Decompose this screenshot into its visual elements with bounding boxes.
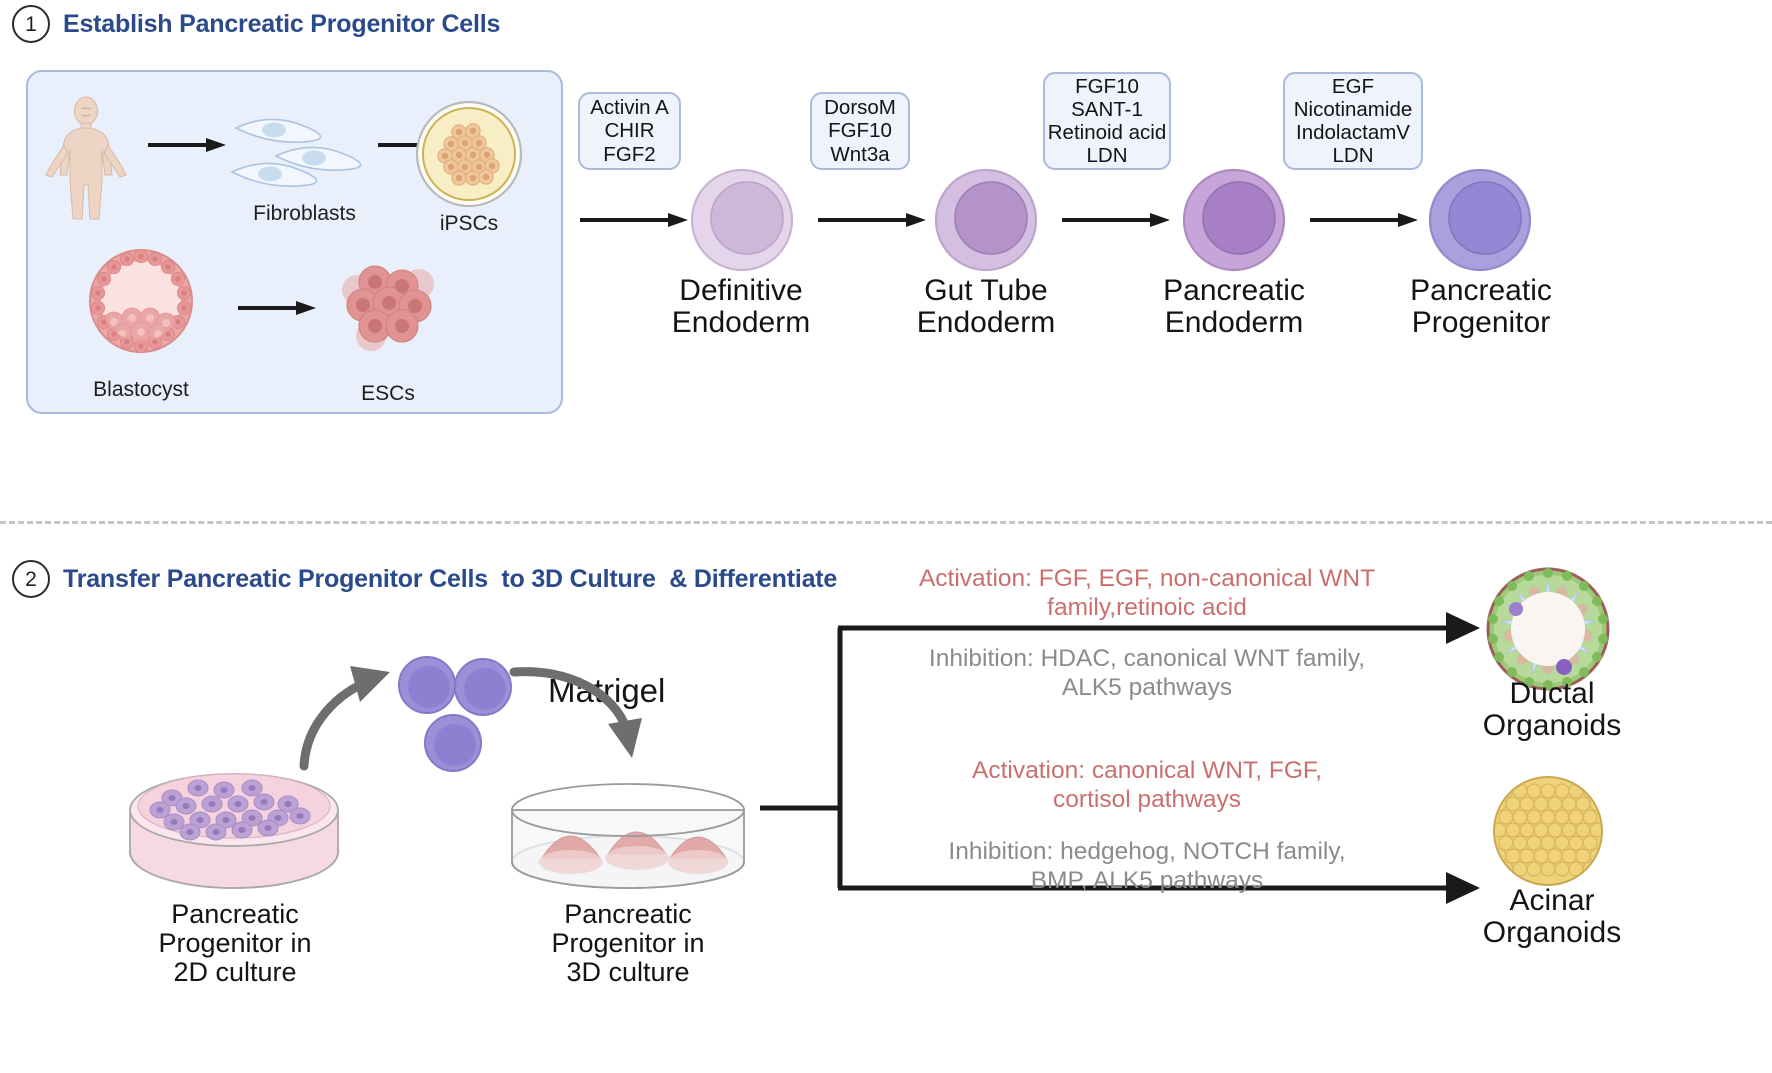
factor-line: Retinoid acid: [1048, 121, 1167, 144]
stage-label-definitive-endoderm: Definitive Endoderm: [650, 275, 832, 339]
ductal-inhibition-text: Inhibition: HDAC, canonical WNT family, …: [862, 645, 1432, 702]
petri-dish-ipsc-icon: [415, 100, 523, 208]
factor-line: FGF2: [603, 143, 655, 166]
factor-line: DorsoM: [824, 96, 896, 119]
factor-line: FGF10: [1075, 75, 1139, 98]
stage-label-pancreatic-endoderm: Pancreatic Endoderm: [1143, 275, 1325, 339]
factor-line: Nicotinamide: [1294, 98, 1413, 121]
dish-2d-label: Pancreatic Progenitor in 2D culture: [120, 900, 350, 987]
step-2-header: 2 Transfer Pancreatic Progenitor Cells t…: [12, 560, 837, 598]
factor-line: IndolactamV: [1296, 121, 1410, 144]
arrow-to-definitive-endoderm: [580, 212, 688, 228]
ipscs-label: iPSCs: [409, 212, 529, 236]
arrow-2d-to-cluster: [290, 640, 400, 770]
factor-box-pancreatic-progenitor: EGF Nicotinamide IndolactamV LDN: [1283, 72, 1423, 170]
factor-line: FGF10: [828, 119, 892, 142]
step-1-header: 1 Establish Pancreatic Progenitor Cells: [12, 5, 500, 43]
factor-box-pancreatic-endoderm: FGF10 SANT-1 Retinoid acid LDN: [1043, 72, 1171, 170]
factor-line: CHIR: [604, 119, 654, 142]
step-1-title: Establish Pancreatic Progenitor Cells: [63, 10, 500, 39]
arrow-to-pancreatic-endoderm: [1062, 212, 1170, 228]
acinar-inhibition-text: Inhibition: hedgehog, NOTCH family, BMP,…: [862, 838, 1432, 895]
blastocyst-label: Blastocyst: [86, 378, 196, 402]
petri-dish-3d-icon: [508, 788, 748, 898]
arrow-to-gut-tube-endoderm: [818, 212, 926, 228]
factor-line: LDN: [1332, 144, 1373, 167]
stage-label-gut-tube-endoderm: Gut Tube Endoderm: [895, 275, 1077, 339]
arrow-to-pancreatic-progenitor: [1310, 212, 1418, 228]
factor-box-definitive-endoderm: Activin A CHIR FGF2: [578, 92, 681, 170]
step-2-title: Transfer Pancreatic Progenitor Cells to …: [63, 565, 837, 594]
factor-line: SANT-1: [1071, 98, 1143, 121]
factor-line: LDN: [1086, 144, 1127, 167]
arrow-human-to-fibroblasts: [148, 137, 226, 153]
arrow-cluster-to-3d: [510, 650, 650, 790]
fibroblasts-label: Fibroblasts: [222, 202, 387, 226]
factor-line: Activin A: [590, 96, 669, 119]
cell-pancreatic-endoderm: [1182, 168, 1286, 272]
ductal-organoids-label: Ductal Organoids: [1462, 678, 1642, 742]
progenitor-cell-cluster-icon: [395, 655, 517, 777]
factor-line: EGF: [1332, 75, 1374, 98]
cell-gut-tube-endoderm: [934, 168, 1038, 272]
stage-label-pancreatic-progenitor: Pancreatic Progenitor: [1390, 275, 1572, 339]
ductal-organoid-icon: [1486, 567, 1610, 691]
blastocyst-icon: [88, 248, 194, 354]
fibroblast-cells-icon: [232, 110, 377, 192]
human-body-icon: [40, 95, 132, 220]
cell-pancreatic-progenitor: [1428, 168, 1532, 272]
escs-label: ESCs: [343, 382, 433, 406]
acinar-organoid-icon: [1492, 775, 1604, 887]
section-divider: [0, 521, 1772, 524]
step-1-number: 1: [12, 5, 50, 43]
acinar-activation-text: Activation: canonical WNT, FGF, cortisol…: [862, 757, 1432, 814]
cell-definitive-endoderm: [690, 168, 794, 272]
arrow-blastocyst-to-escs: [238, 300, 316, 316]
factor-line: Wnt3a: [830, 143, 889, 166]
factor-box-gut-tube-endoderm: DorsoM FGF10 Wnt3a: [810, 92, 910, 170]
esc-cluster-icon: [337, 258, 437, 350]
dish-3d-label: Pancreatic Progenitor in 3D culture: [513, 900, 743, 987]
step-2-number: 2: [12, 560, 50, 598]
ductal-activation-text: Activation: FGF, EGF, non-canonical WNT …: [862, 565, 1432, 622]
acinar-organoids-label: Acinar Organoids: [1462, 885, 1642, 949]
